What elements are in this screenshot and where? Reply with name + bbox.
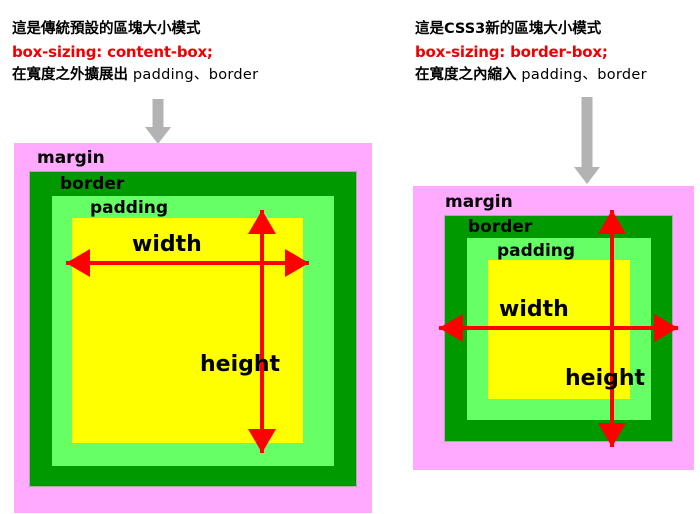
caption-border-box: 這是CSS3新的區塊大小模式 box-sizing: border-box; 在… <box>415 18 647 87</box>
arrow-head-bottom <box>248 429 276 453</box>
arrow-head <box>574 167 600 184</box>
caption-right-line-3-cjk: 在寬度之內縮入 <box>415 67 517 83</box>
width-label: width <box>132 234 202 256</box>
caption-right-line-3-latin: padding、border <box>517 67 647 83</box>
height-arrow <box>598 210 626 447</box>
caption-left-line-3: 在寬度之外擴展出 padding、border <box>12 64 258 87</box>
height-label: height <box>565 368 645 390</box>
box-model-diagram-border-box: margin border padding width height <box>413 186 694 470</box>
arrow-head-top <box>248 210 276 234</box>
down-arrow-icon <box>145 99 171 144</box>
padding-label: padding <box>497 243 575 260</box>
arrow-shaft <box>610 210 614 447</box>
caption-right-code: box-sizing: border-box; <box>415 41 647 64</box>
width-label: width <box>499 299 569 321</box>
caption-left-line-3-cjk: 在寬度之外擴展出 <box>12 67 128 83</box>
caption-content-box: 這是傳統預設的區塊大小模式 box-sizing: content-box; 在… <box>12 18 258 87</box>
caption-left-line-3-latin: padding、border <box>128 67 258 83</box>
margin-label: margin <box>445 194 513 211</box>
caption-left-line-1: 這是傳統預設的區塊大小模式 <box>12 18 258 41</box>
arrow-head-left <box>439 314 463 342</box>
caption-right-line-1: 這是CSS3新的區塊大小模式 <box>415 18 647 41</box>
arrow-head-top <box>598 210 626 234</box>
arrow-shaft <box>260 210 264 453</box>
height-arrow <box>248 210 276 453</box>
height-label: height <box>200 354 280 376</box>
down-arrow-icon <box>574 97 600 187</box>
arrow-shaft <box>582 97 593 169</box>
arrow-shaft <box>439 326 678 330</box>
arrow-head-right <box>654 314 678 342</box>
border-label: border <box>60 176 124 193</box>
margin-label: margin <box>37 150 105 167</box>
arrow-head-left <box>66 249 90 277</box>
caption-right-line-3: 在寬度之內縮入 padding、border <box>415 64 647 87</box>
arrow-head <box>145 127 171 144</box>
arrow-shaft <box>153 99 164 129</box>
caption-left-code: box-sizing: content-box; <box>12 41 258 64</box>
arrow-head-right <box>285 249 309 277</box>
padding-label: padding <box>90 200 168 217</box>
border-label: border <box>468 219 532 236</box>
arrow-head-bottom <box>598 423 626 447</box>
box-model-diagram-content-box: margin border padding width height <box>14 143 372 513</box>
